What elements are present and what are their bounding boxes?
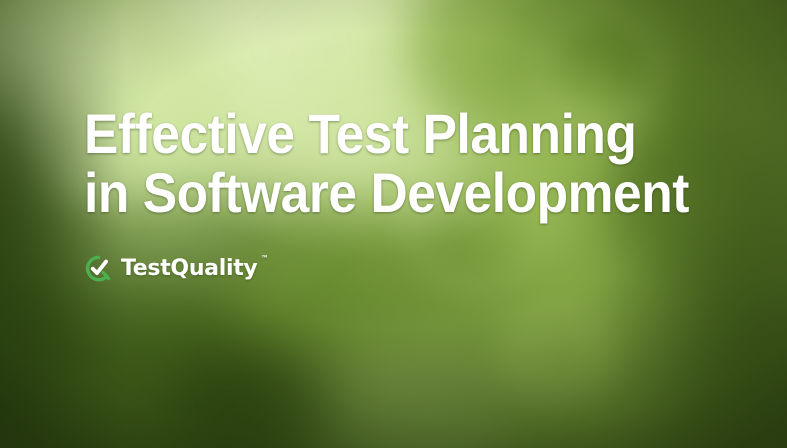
title-line-2: in Software Development: [84, 163, 689, 222]
check-circle-q-icon: [84, 254, 113, 283]
slide-content: Effective Test Planning in Software Deve…: [84, 0, 724, 448]
trademark-symbol: ™: [261, 255, 269, 263]
brand-logo: TestQuality ™: [84, 254, 257, 283]
brand-wordmark-text: TestQuality: [121, 256, 257, 281]
title-line-1: Effective Test Planning: [84, 104, 689, 163]
brand-wordmark: TestQuality ™: [121, 258, 257, 280]
page-title: Effective Test Planning in Software Deve…: [84, 104, 689, 222]
title-slide: Effective Test Planning in Software Deve…: [0, 0, 787, 448]
